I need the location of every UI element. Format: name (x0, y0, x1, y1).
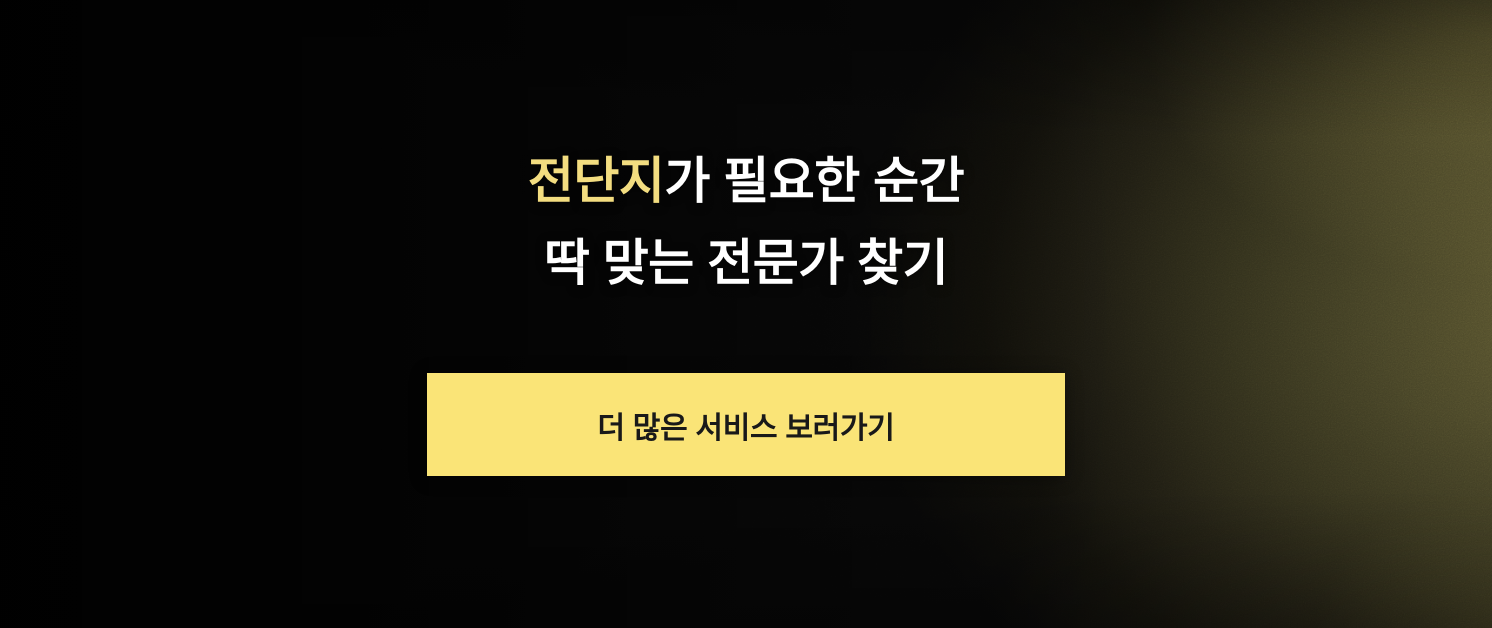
background-glow-main (0, 0, 1492, 628)
background-vignette-left (0, 0, 1492, 628)
headline-accent-text: 전단지 (528, 153, 665, 209)
headline-line-1-rest: 가 필요한 순간 (664, 153, 964, 209)
more-services-button[interactable]: 더 많은 서비스 보러가기 (427, 373, 1065, 476)
noise-grain-overlay (0, 0, 1492, 628)
page-title: 전단지가 필요한 순간 딱 맞는 전문가 찾기 (0, 140, 1492, 304)
banner-content: 전단지가 필요한 순간 딱 맞는 전문가 찾기 더 많은 서비스 보러가기 (0, 0, 1492, 628)
background-glow-bottom (0, 0, 1492, 628)
background-vignette-edges (0, 0, 1492, 628)
promo-banner: 전단지가 필요한 순간 딱 맞는 전문가 찾기 더 많은 서비스 보러가기 (0, 0, 1492, 628)
headline-line-2: 딱 맞는 전문가 찾기 (0, 222, 1492, 304)
background-glow-top (0, 0, 1492, 628)
headline-line-1: 전단지가 필요한 순간 (0, 140, 1492, 222)
cta-container: 더 많은 서비스 보러가기 (427, 373, 1065, 476)
